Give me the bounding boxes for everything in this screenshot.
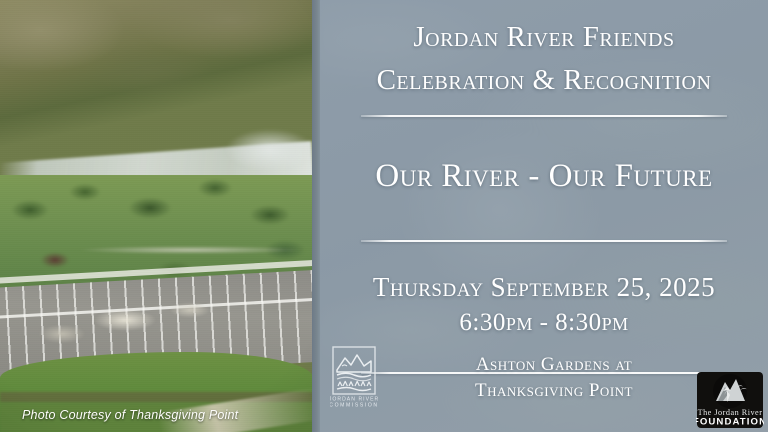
photo-credit: Photo Courtesy of Thanksgiving Point	[22, 408, 238, 422]
info-panel: Jordan River Friends Celebration & Recog…	[320, 0, 768, 432]
photo-vignette	[0, 0, 313, 432]
event-venue-line-1: Ashton Gardens at	[404, 352, 704, 378]
divider-top	[361, 115, 727, 117]
aerial-photo: Photo Courtesy of Thanksgiving Point	[0, 0, 313, 432]
jordan-river-foundation-logo: The Jordan River FOUNDATION	[696, 371, 764, 429]
svg-text:FOUNDATION: FOUNDATION	[696, 417, 764, 428]
event-time: 6:30pm - 8:30pm	[459, 306, 628, 340]
event-flyer: Photo Courtesy of Thanksgiving Point Jor…	[0, 0, 768, 432]
event-title-line-2: Celebration & Recognition	[377, 59, 712, 102]
event-date: Thursday September 25, 2025	[373, 269, 715, 305]
event-venue-line-2: Thanksgiving Point	[404, 378, 704, 404]
divider-middle	[361, 240, 727, 242]
mountains-river-trees-icon: JORDAN RIVER COMMISSION	[330, 346, 378, 408]
event-title-line-1: Jordan River Friends	[377, 16, 712, 59]
event-title: Jordan River Friends Celebration & Recog…	[377, 16, 712, 102]
event-venue: Ashton Gardens at Thanksgiving Point	[404, 352, 704, 404]
event-tagline: Our River - Our Future	[375, 155, 712, 197]
svg-text:COMMISSION: COMMISSION	[330, 403, 378, 409]
mountain-bird-icon: The Jordan River FOUNDATION	[696, 371, 764, 429]
jordan-river-commission-logo: JORDAN RIVER COMMISSION	[330, 346, 378, 408]
